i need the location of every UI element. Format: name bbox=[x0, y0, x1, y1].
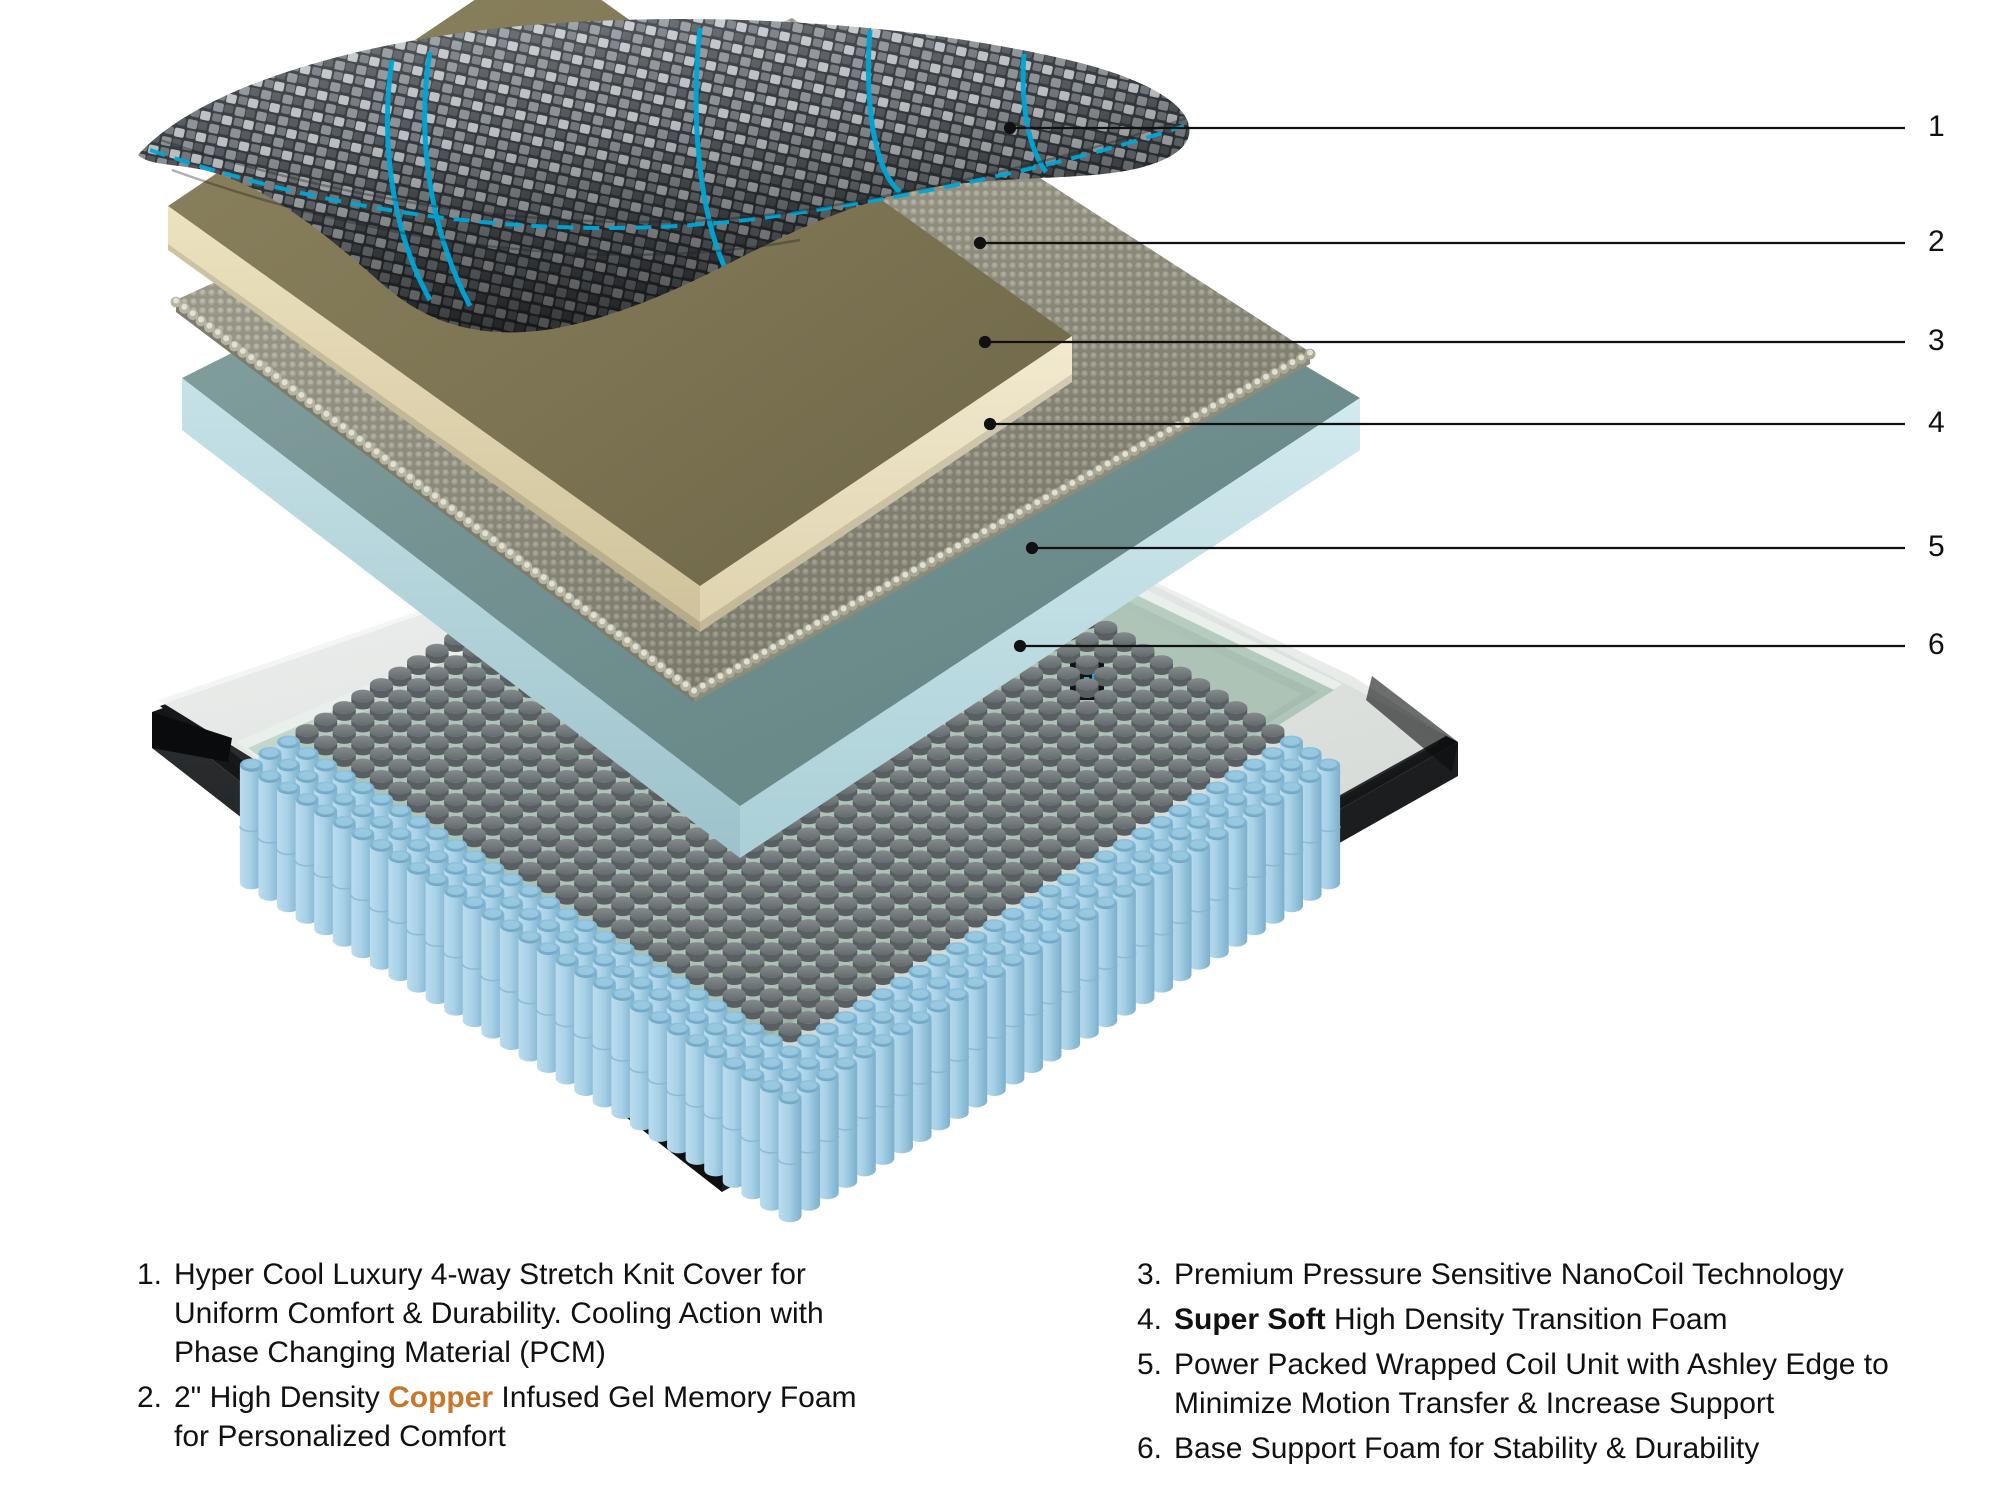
layer-legend: 1.Hyper Cool Luxury 4-way Stretch Knit C… bbox=[0, 1255, 2000, 1500]
mattress-illustration bbox=[0, 0, 2000, 1230]
legend-item-text: Power Packed Wrapped Coil Unit with Ashl… bbox=[1174, 1345, 1920, 1423]
legend-item: 6.Base Support Foam for Stability & Dura… bbox=[1120, 1429, 1920, 1468]
legend-item-number: 2. bbox=[120, 1378, 174, 1417]
legend-item-text: Hyper Cool Luxury 4-way Stretch Knit Cov… bbox=[174, 1255, 860, 1372]
callout-number-2: 2 bbox=[1928, 227, 1945, 257]
callout-number-5: 5 bbox=[1928, 532, 1945, 562]
copper-highlight: Copper bbox=[388, 1381, 493, 1414]
legend-item-number: 1. bbox=[120, 1255, 174, 1294]
legend-text-segment: 2" High Density bbox=[174, 1381, 388, 1414]
legend-item-number: 6. bbox=[1120, 1429, 1174, 1468]
legend-text-segment: High Density Transition Foam bbox=[1326, 1303, 1728, 1336]
callout-number-6: 6 bbox=[1928, 630, 1945, 660]
legend-column-right: 3.Premium Pressure Sensitive NanoCoil Te… bbox=[1120, 1255, 1920, 1474]
legend-item-text: Base Support Foam for Stability & Durabi… bbox=[1174, 1429, 1759, 1468]
legend-text-segment: Power Packed Wrapped Coil Unit with Ashl… bbox=[1174, 1348, 1889, 1420]
legend-item: 3.Premium Pressure Sensitive NanoCoil Te… bbox=[1120, 1255, 1920, 1294]
legend-item: 5.Power Packed Wrapped Coil Unit with As… bbox=[1120, 1345, 1920, 1423]
legend-column-left: 1.Hyper Cool Luxury 4-way Stretch Knit C… bbox=[120, 1255, 860, 1462]
legend-item-number: 4. bbox=[1120, 1300, 1174, 1339]
legend-item-number: 5. bbox=[1120, 1345, 1174, 1384]
legend-item-text: 2" High Density Copper Infused Gel Memor… bbox=[174, 1378, 860, 1456]
legend-item-number: 3. bbox=[1120, 1255, 1174, 1294]
mattress-exploded-diagram: 1 2 3 4 5 6 bbox=[0, 0, 2000, 1230]
legend-item-text: Premium Pressure Sensitive NanoCoil Tech… bbox=[1174, 1255, 1844, 1294]
legend-item: 2.2" High Density Copper Infused Gel Mem… bbox=[120, 1378, 860, 1456]
legend-item: 1.Hyper Cool Luxury 4-way Stretch Knit C… bbox=[120, 1255, 860, 1372]
callout-number-4: 4 bbox=[1928, 408, 1945, 438]
legend-item-text: Super Soft High Density Transition Foam bbox=[1174, 1300, 1728, 1339]
callout-number-3: 3 bbox=[1928, 326, 1945, 356]
legend-text-segment: Hyper Cool Luxury 4-way Stretch Knit Cov… bbox=[174, 1258, 824, 1369]
legend-text-segment: Base Support Foam for Stability & Durabi… bbox=[1174, 1432, 1759, 1465]
legend-text-segment: Premium Pressure Sensitive NanoCoil Tech… bbox=[1174, 1258, 1844, 1291]
legend-item: 4.Super Soft High Density Transition Foa… bbox=[1120, 1300, 1920, 1339]
bold-emphasis: Super Soft bbox=[1174, 1303, 1326, 1336]
callout-number-1: 1 bbox=[1928, 112, 1945, 142]
